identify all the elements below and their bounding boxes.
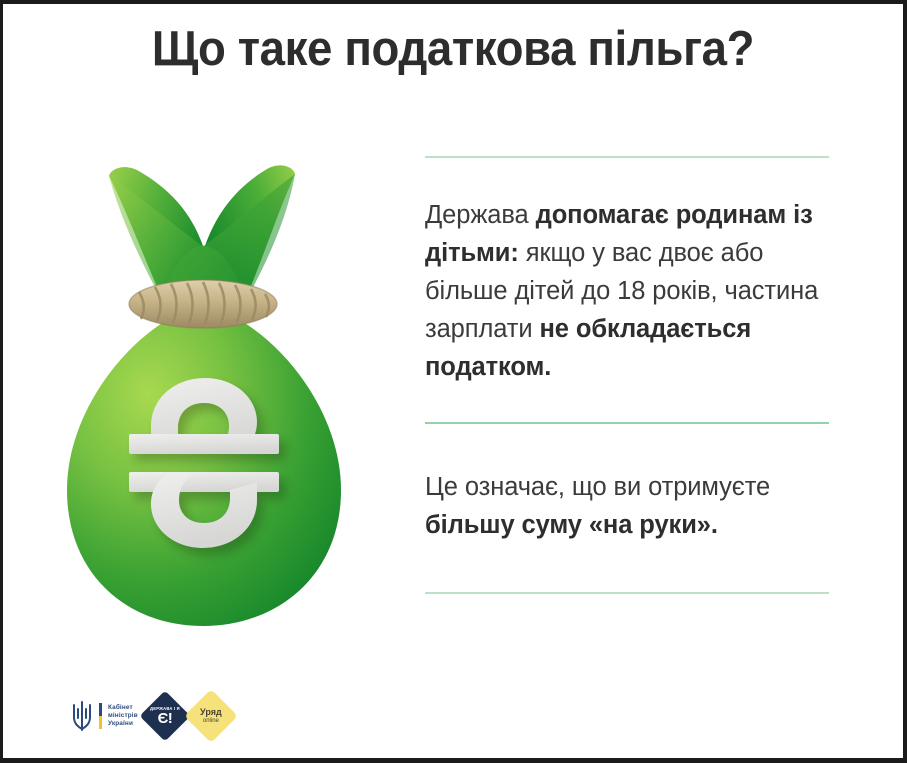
- cabinet-of-ministers-logo: Кабінет міністрів України: [71, 701, 138, 731]
- cmu-line-1: Кабінет: [108, 704, 138, 712]
- uryad-online-logo: Уряд online: [184, 689, 238, 743]
- money-bag-icon: [51, 154, 401, 654]
- footer-logos: Кабінет міністрів України ДЕРЖАВА І Я Є!…: [71, 696, 230, 736]
- cmu-line-2: міністрів: [108, 712, 138, 720]
- divider-middle: [425, 422, 829, 424]
- cmu-flag-bars: [99, 703, 102, 729]
- trident-emblem-icon: [71, 701, 93, 731]
- p2-bold-1: більшу суму «на руки».: [425, 511, 718, 539]
- divider-bottom: [425, 592, 829, 594]
- divider-top: [425, 156, 829, 158]
- text-column: Держава допомагає родинам із дітьми: якщ…: [425, 156, 829, 594]
- paragraph-benefit: Держава допомагає родинам із дітьми: якщ…: [425, 196, 829, 386]
- money-bag-illustration: [51, 154, 401, 654]
- p1-text-1: Держава: [425, 201, 536, 229]
- cmu-label: Кабінет міністрів України: [108, 704, 138, 729]
- diia-mark: Є!: [150, 711, 180, 726]
- uryad-sublabel: online: [200, 717, 222, 725]
- cmu-line-3: України: [108, 720, 138, 728]
- bag-body: [67, 304, 341, 626]
- paragraph-meaning: Це означає, що ви отримуєте більшу суму …: [425, 468, 829, 544]
- uryad-label: Уряд: [200, 707, 222, 717]
- page-title: Що таке податкова пільга?: [35, 20, 872, 78]
- slide: Що таке податкова пільга?: [0, 0, 907, 763]
- diia-logo: ДЕРЖАВА І Я Є!: [139, 691, 190, 742]
- p2-text-1: Це означає, що ви отримуєте: [425, 473, 770, 501]
